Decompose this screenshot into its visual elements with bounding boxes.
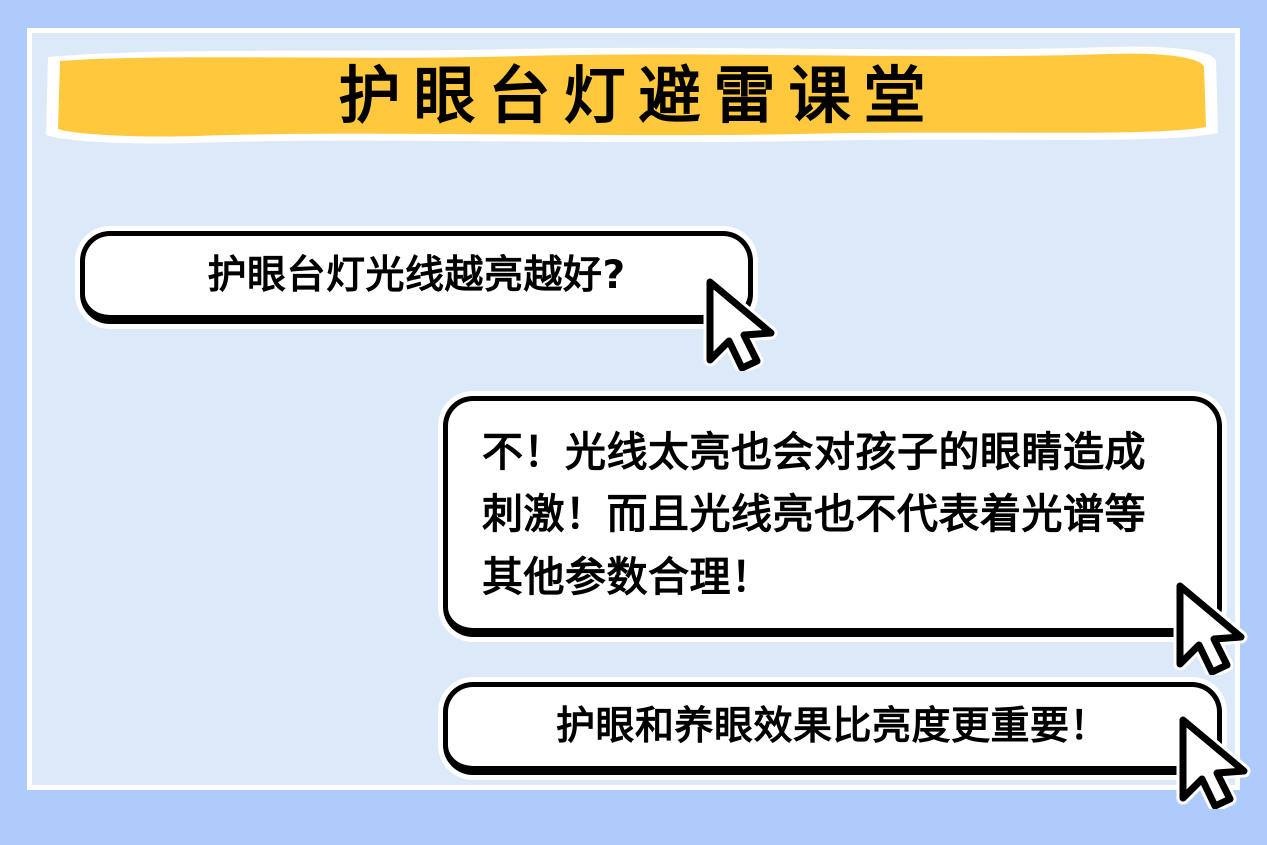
title-banner: 护眼台灯避雷课堂: [42, 41, 1222, 151]
poster-canvas: 护眼台灯避雷课堂 护眼台灯光线越亮越好? 不！光线太亮也会对孩子的眼睛造成刺激！…: [0, 0, 1267, 845]
bubble-conclusion-text: 护眼和养眼效果比亮度更重要！: [556, 707, 1109, 746]
speech-bubble-answer[interactable]: 不！光线太亮也会对孩子的眼睛造成刺激！而且光线亮也不代表着光谱等其他参数合理！: [443, 396, 1222, 637]
bubble-answer-text: 不！光线太亮也会对孩子的眼睛造成刺激！而且光线亮也不代表着光谱等其他参数合理！: [448, 421, 1217, 608]
bubble-question-text: 护眼台灯光线越亮越好?: [207, 256, 625, 295]
speech-bubble-question[interactable]: 护眼台灯光线越亮越好?: [80, 231, 753, 324]
page-title: 护眼台灯避雷课堂: [42, 41, 1222, 151]
speech-bubble-conclusion[interactable]: 护眼和养眼效果比亮度更重要！: [443, 682, 1222, 775]
